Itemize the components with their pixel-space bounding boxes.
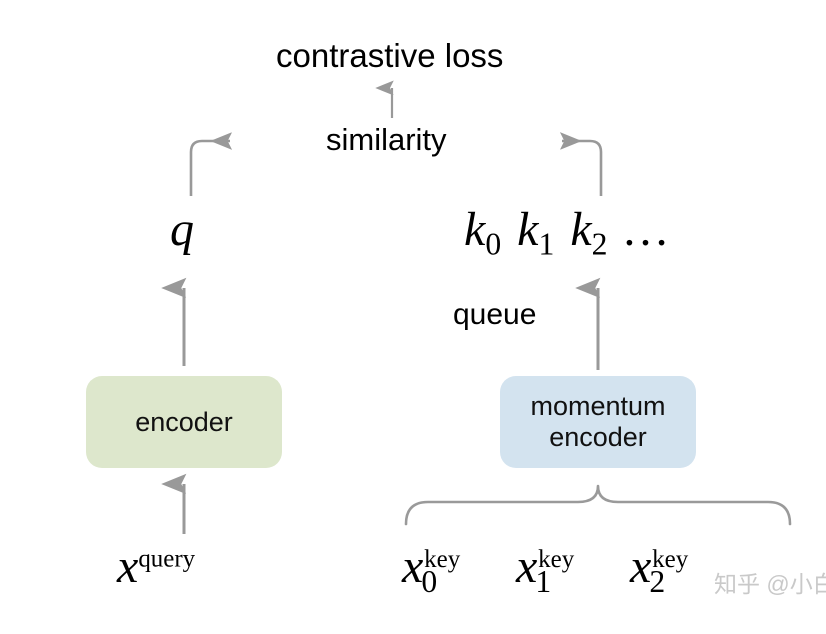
x-key0-label: x0key bbox=[402, 540, 460, 599]
x-key0-superscript: key bbox=[424, 546, 460, 573]
figure-canvas: contrastive loss similarity queue q k0k1… bbox=[0, 0, 826, 634]
q-label: q bbox=[170, 203, 194, 257]
x-key1-superscript: key bbox=[538, 546, 574, 573]
x-key2-superscript: key bbox=[652, 546, 688, 573]
k2-term: k2 bbox=[570, 203, 607, 262]
momentum-encoder-line1: momentum bbox=[530, 391, 665, 421]
contrastive-loss-label: contrastive loss bbox=[276, 38, 503, 75]
connector-layer bbox=[0, 0, 826, 634]
k0-term: k0 bbox=[464, 203, 501, 262]
momentum-encoder-box-label: momentum encoder bbox=[530, 391, 665, 453]
arrow-q-to-similarity bbox=[191, 141, 230, 196]
k0-base: k bbox=[464, 203, 485, 256]
x-query-base: x bbox=[117, 540, 138, 593]
encoder-box-label: encoder bbox=[135, 407, 233, 438]
arrow-k-to-similarity bbox=[562, 141, 601, 196]
x-key2-label: x2key bbox=[630, 540, 688, 599]
k1-term: k1 bbox=[517, 203, 554, 262]
momentum-encoder-line2: encoder bbox=[549, 422, 647, 452]
k-ellipsis: … bbox=[621, 203, 669, 256]
momentum-encoder-box[interactable]: momentum encoder bbox=[500, 376, 696, 468]
k2-base: k bbox=[570, 203, 591, 256]
x-query-superscript: query bbox=[138, 546, 195, 573]
brace-xkeys-to-momentum-encoder bbox=[406, 486, 790, 524]
k2-subscript: 2 bbox=[592, 227, 608, 262]
k1-subscript: 1 bbox=[538, 227, 554, 262]
zhihu-watermark: 知乎 @小白 bbox=[714, 565, 826, 599]
encoder-box[interactable]: encoder bbox=[86, 376, 282, 468]
x-key1-label: x1key bbox=[516, 540, 574, 599]
similarity-label: similarity bbox=[326, 123, 447, 158]
k0-subscript: 0 bbox=[485, 227, 501, 262]
x-query-label: xquery bbox=[117, 540, 195, 594]
k-sequence: k0k1k2… bbox=[464, 203, 669, 262]
queue-label: queue bbox=[453, 298, 536, 332]
k1-base: k bbox=[517, 203, 538, 256]
